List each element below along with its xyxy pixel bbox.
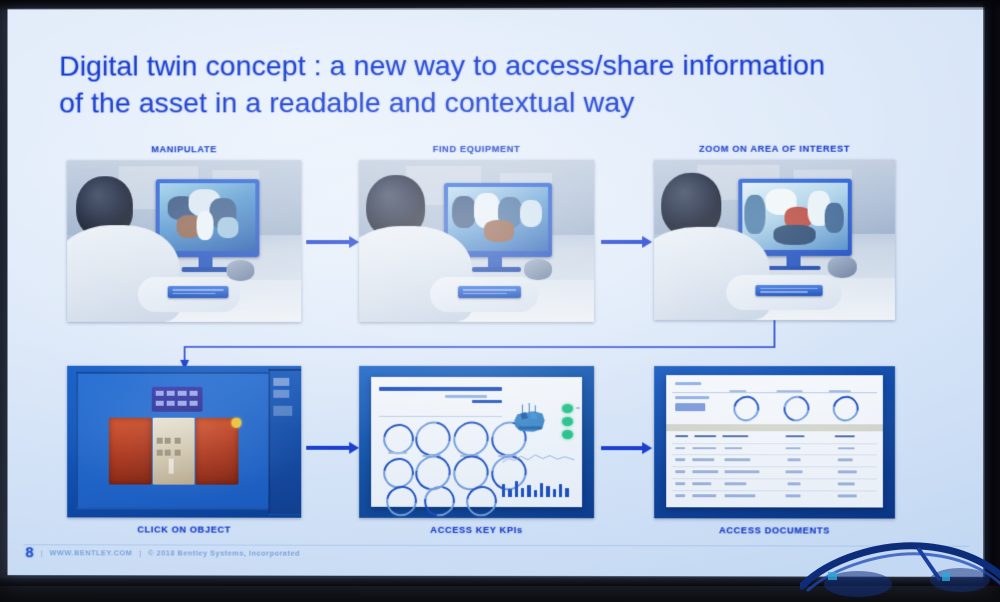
screen-top-edge [0,0,1000,10]
photo-find-equipment [359,160,594,322]
photo-manipulate [67,160,301,322]
photo-zoom-on-area-of-interest [654,160,895,320]
arrow-find-to-zoom [601,240,643,244]
caption-access-key-kpis: ACCESS KEY KPIs [359,525,594,535]
arrow-kpis-to-documents [601,446,643,450]
photograph-of-projected-slide: Digital twin concept : a new way to acce… [0,0,1000,586]
caption-zoom-on-area-of-interest: ZOOM ON AREA OF INTEREST [654,144,895,154]
slide-title: Digital twin concept : a new way to acce… [59,47,879,122]
slide-footer: 8 | WWW.BENTLEY.COM | © 2018 Bentley Sys… [25,544,300,561]
equipment-3d-render [502,403,557,437]
slide-title-line2: of the asset in a readable and contextua… [59,85,879,123]
photo-click-on-object [67,366,301,518]
slide-title-line1: Digital twin concept : a new way to acce… [59,50,825,83]
trend-line-chart [502,450,576,468]
caption-find-equipment: FIND EQUIPMENT [359,144,594,154]
arrow-manipulate-to-find [306,240,350,244]
footer-copyright: © 2018 Bentley Systems, Incorporated [148,548,300,557]
footer-separator-2: | [139,548,141,557]
eyeglasses-foreground [800,528,1000,602]
caption-click-on-object: CLICK ON OBJECT [67,524,301,534]
arrow-click-to-kpis [306,446,350,450]
photo-access-key-kpis [359,366,594,518]
screen-right-edge [983,0,1000,586]
footer-website: WWW.BENTLEY.COM [50,548,133,557]
footer-separator-1: | [41,548,43,557]
photo-access-documents [654,366,895,518]
presentation-slide: Digital twin concept : a new way to acce… [8,7,985,577]
caption-manipulate: MANIPULATE [67,144,301,154]
page-number: 8 [25,544,33,561]
